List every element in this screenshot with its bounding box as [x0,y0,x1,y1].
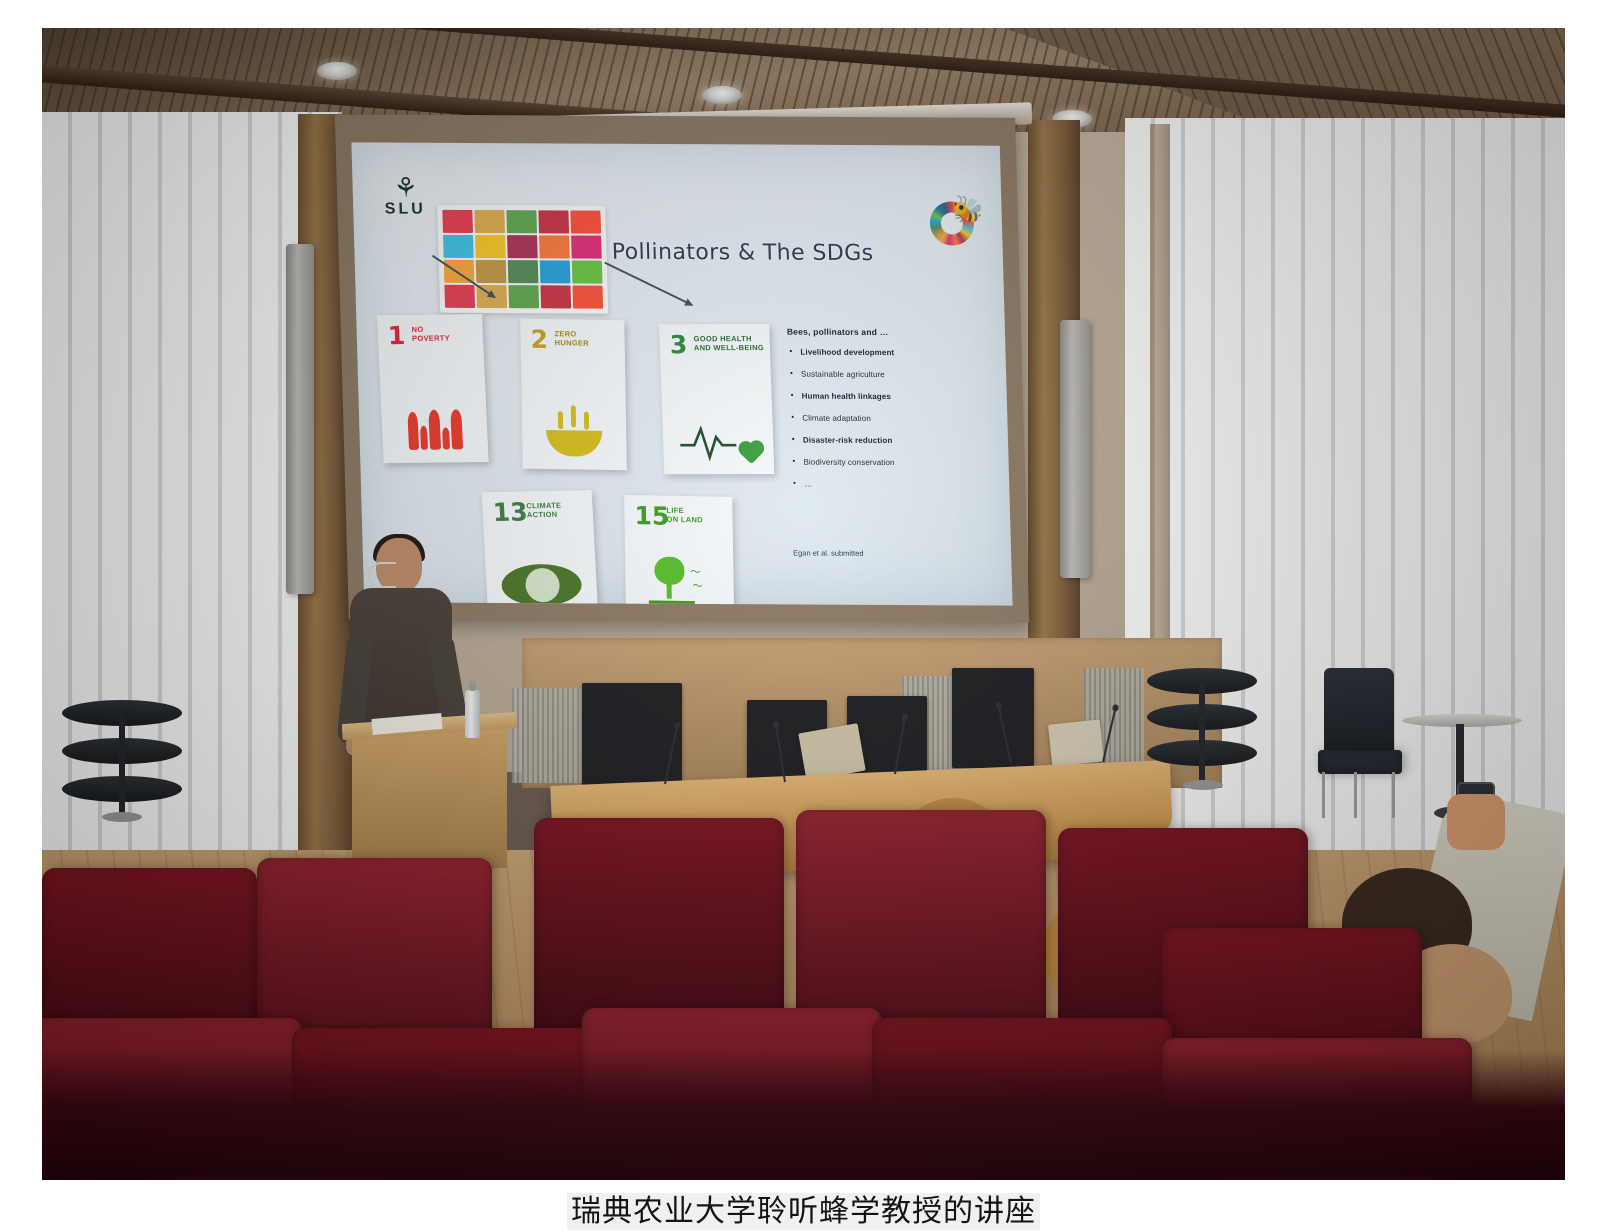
sdg-tile [507,235,538,258]
sdg-card-label: NOPOVERTY [411,324,450,342]
tree-birds-icon: 〜 〜 [625,556,734,606]
sdg-card-number: 3 [669,332,687,357]
corona-chair[interactable] [1147,668,1257,788]
sdg-tile [443,235,474,258]
sdg-tile [506,210,537,233]
sdg-card-label: GOOD HEALTHAND WELL-BEING [693,334,764,352]
sdg-tile [444,285,475,308]
image-caption: 瑞典农业大学聆听蜂学教授的讲座 [0,1186,1607,1230]
sdg-card-number: 2 [530,327,548,352]
sdg-card-13: 13 CLIMATEACTION [482,490,599,605]
bullet-item: Human health linkages [802,392,989,402]
pulse-line-icon [677,421,740,461]
caption-text: 瑞典农业大学聆听蜂学教授的讲座 [567,1193,1040,1230]
sdg-tile [442,210,473,233]
page-root: ⚘ SLU 🐝 Pollinators & The SDGs 1 NOPOVER… [0,0,1607,1231]
bullet-items: Livelihood developmentSustainable agricu… [787,348,991,490]
sdg-tile [540,260,571,283]
lecture-hall-photo: ⚘ SLU 🐝 Pollinators & The SDGs 1 NOPOVER… [42,28,1565,1180]
sdg-card-number: 13 [492,499,528,525]
bullet-item: Disaster-risk reduction [803,436,990,446]
sdg-tile [540,285,571,308]
arrow-right [605,262,693,306]
downlight-icon [317,62,357,80]
bullet-item: Sustainable agriculture [801,370,988,380]
bullet-item: Livelihood development [800,348,987,358]
headset-mic-icon [368,562,396,588]
bullet-item: Climate adaptation [802,414,989,424]
heart-icon [741,443,762,464]
presentation-slide: ⚘ SLU 🐝 Pollinators & The SDGs 1 NOPOVER… [351,142,1012,605]
sdg-tile [474,210,505,233]
sdg-card-15: 15 LIFEON LAND 〜 〜 [624,495,734,606]
sdg-tile [508,260,539,283]
sdg-card-number: 1 [387,323,406,348]
wooden-pillar [1150,124,1170,684]
eye-globe-icon [485,563,597,606]
corona-chair[interactable] [62,700,182,820]
sdg-card-label: ZEROHUNGER [554,329,589,348]
bullet-list: Bees, pollinators and … Livelihood devel… [787,327,992,503]
slide-citation: Egan et al. submitted [793,548,864,557]
slide-title: Pollinators & The SDGs [592,240,893,267]
sdg-tile [475,235,506,258]
slu-mark-icon: ⚘ [374,176,435,198]
sdg-icon-grid [437,205,608,314]
sdg-tile [538,210,569,233]
sdg-tile [476,260,507,283]
water-bottle [465,690,480,738]
slu-wordmark: SLU [375,200,436,218]
sdg-card-number: 15 [634,503,669,529]
sdg-tile [539,235,570,258]
foreground-shadow [42,1050,1565,1180]
sdg-card-2: 2 ZEROHUNGER [520,319,627,471]
sdg-card-3: 3 GOOD HEALTHAND WELL-BEING [659,324,774,474]
pulse-heart-icon [662,421,774,466]
bullet-item: Biodiversity conservation [803,458,990,468]
lectern [352,723,507,879]
panel-monitor [952,668,1034,768]
wall-speaker [1060,320,1090,578]
downlight-icon [702,86,742,104]
steaming-bowl-icon [522,410,627,463]
sdg-card-label: LIFEON LAND [666,506,703,525]
sdg-card-label: CLIMATEACTION [526,501,562,520]
panel-laptop [1048,719,1104,766]
sdg-tile [572,285,603,308]
sdg-tile [570,211,601,234]
bullet-item: … [804,480,991,490]
sdg-tile [508,285,539,308]
wall-speaker [286,244,314,594]
family-figures-icon [381,409,488,455]
bullet-heading: Bees, pollinators and … [787,327,987,338]
sdg-card-1: 1 NOPOVERTY [377,314,489,463]
slu-logo: ⚘ SLU [374,176,435,218]
